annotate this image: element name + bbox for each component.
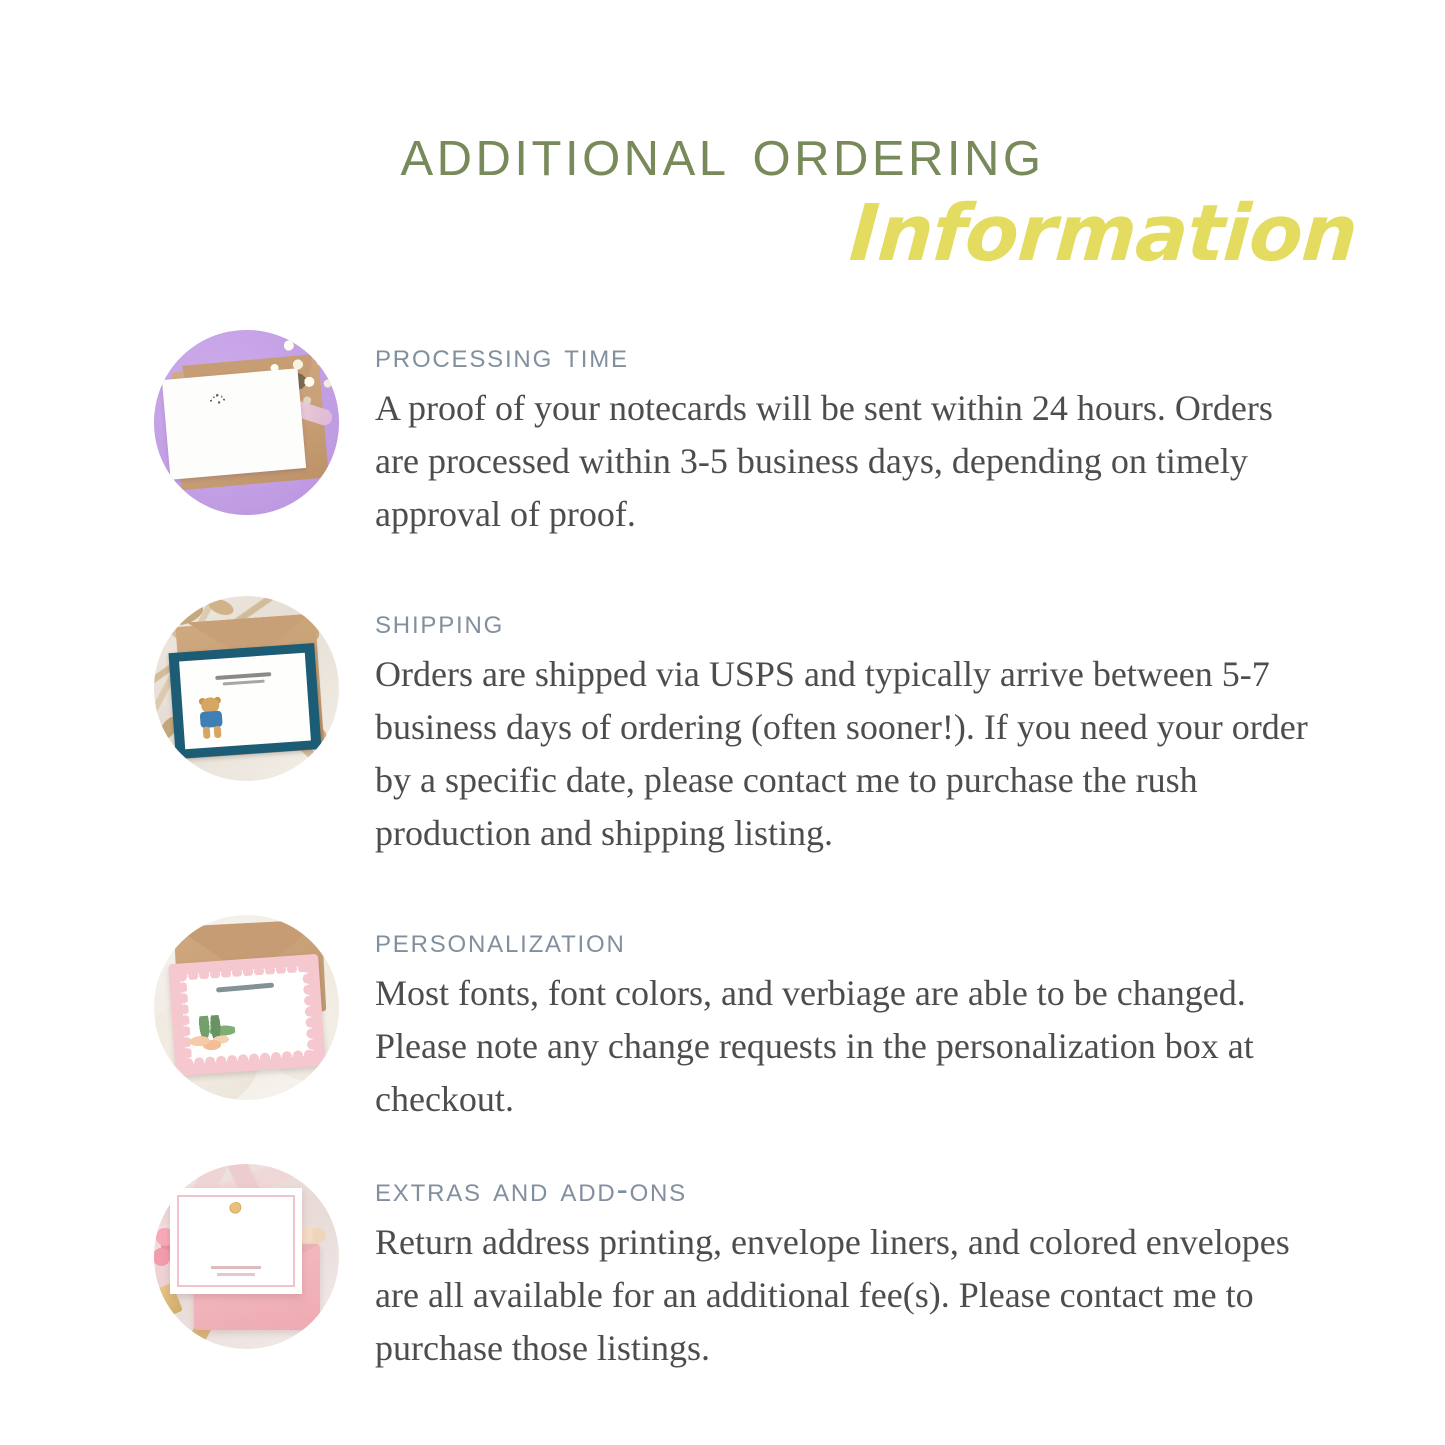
section-heading-extras-and-add-ons: Extras and Add-Ons	[375, 1170, 1310, 1210]
thumbnail-shipping-image	[154, 596, 339, 781]
section-body-processing-time: A proof of your notecards will be sent w…	[375, 382, 1310, 541]
bear-leg	[214, 726, 222, 738]
gold-crest-icon	[229, 1202, 243, 1216]
page-title: Additional Ordering	[130, 112, 1315, 190]
section-content: Extras and Add-Ons Return address printi…	[375, 1164, 1445, 1375]
white-notecard-icon	[170, 1188, 302, 1294]
section-heading-processing-time: Processing Time	[375, 336, 1310, 376]
floral-bouquet-icon	[188, 1014, 237, 1057]
notecard-pink-envelope-illustration	[154, 1164, 339, 1349]
teal-notecard-icon	[168, 643, 321, 759]
section-heading-personalization: Personalization	[375, 921, 1310, 961]
thumbnail-wrapper	[154, 596, 339, 781]
thumbnail-processing-time-image	[154, 330, 339, 515]
notecard-pink-scallop-illustration	[154, 915, 339, 1100]
section-personalization: Personalization Most fonts, font colors,…	[0, 915, 1445, 1126]
notecard-lavender-illustration	[154, 330, 339, 515]
pink-scalloped-notecard-icon	[168, 954, 325, 1076]
section-content: Personalization Most fonts, font colors,…	[375, 915, 1445, 1126]
section-content: Processing Time A proof of your notecard…	[375, 330, 1445, 541]
floral-monogram-icon	[205, 390, 232, 408]
bear-leg	[203, 727, 211, 739]
section-shipping: Shipping Orders are shipped via USPS and…	[0, 596, 1445, 860]
thumbnail-wrapper	[154, 915, 339, 1100]
thumbnail-wrapper	[154, 330, 339, 515]
section-extras-and-add-ons: Extras and Add-Ons Return address printi…	[0, 1164, 1445, 1375]
section-content: Shipping Orders are shipped via USPS and…	[375, 596, 1445, 860]
page-title-script: Information	[847, 186, 1360, 282]
notecard-teal-illustration	[154, 596, 339, 781]
sections-list: Processing Time A proof of your notecard…	[0, 330, 1445, 1375]
teddy-bear-icon	[196, 696, 227, 740]
section-processing-time: Processing Time A proof of your notecard…	[0, 330, 1445, 541]
printed-name-line	[211, 1266, 261, 1278]
section-heading-shipping: Shipping	[375, 602, 1310, 642]
thumbnail-wrapper	[154, 1164, 339, 1349]
ordering-information-page: Additional Ordering Information	[0, 0, 1445, 1445]
section-body-shipping: Orders are shipped via USPS and typicall…	[375, 648, 1310, 860]
white-notecard-icon	[162, 368, 306, 479]
thumbnail-personalization-image	[154, 915, 339, 1100]
notecard-inner-panel	[179, 653, 311, 750]
printed-name-line	[223, 680, 265, 686]
section-body-personalization: Most fonts, font colors, and verbiage ar…	[375, 967, 1310, 1126]
thumbnail-extras-image	[154, 1164, 339, 1349]
page-header: Additional Ordering Information	[0, 112, 1445, 302]
section-body-extras-and-add-ons: Return address printing, envelope liners…	[375, 1216, 1310, 1375]
